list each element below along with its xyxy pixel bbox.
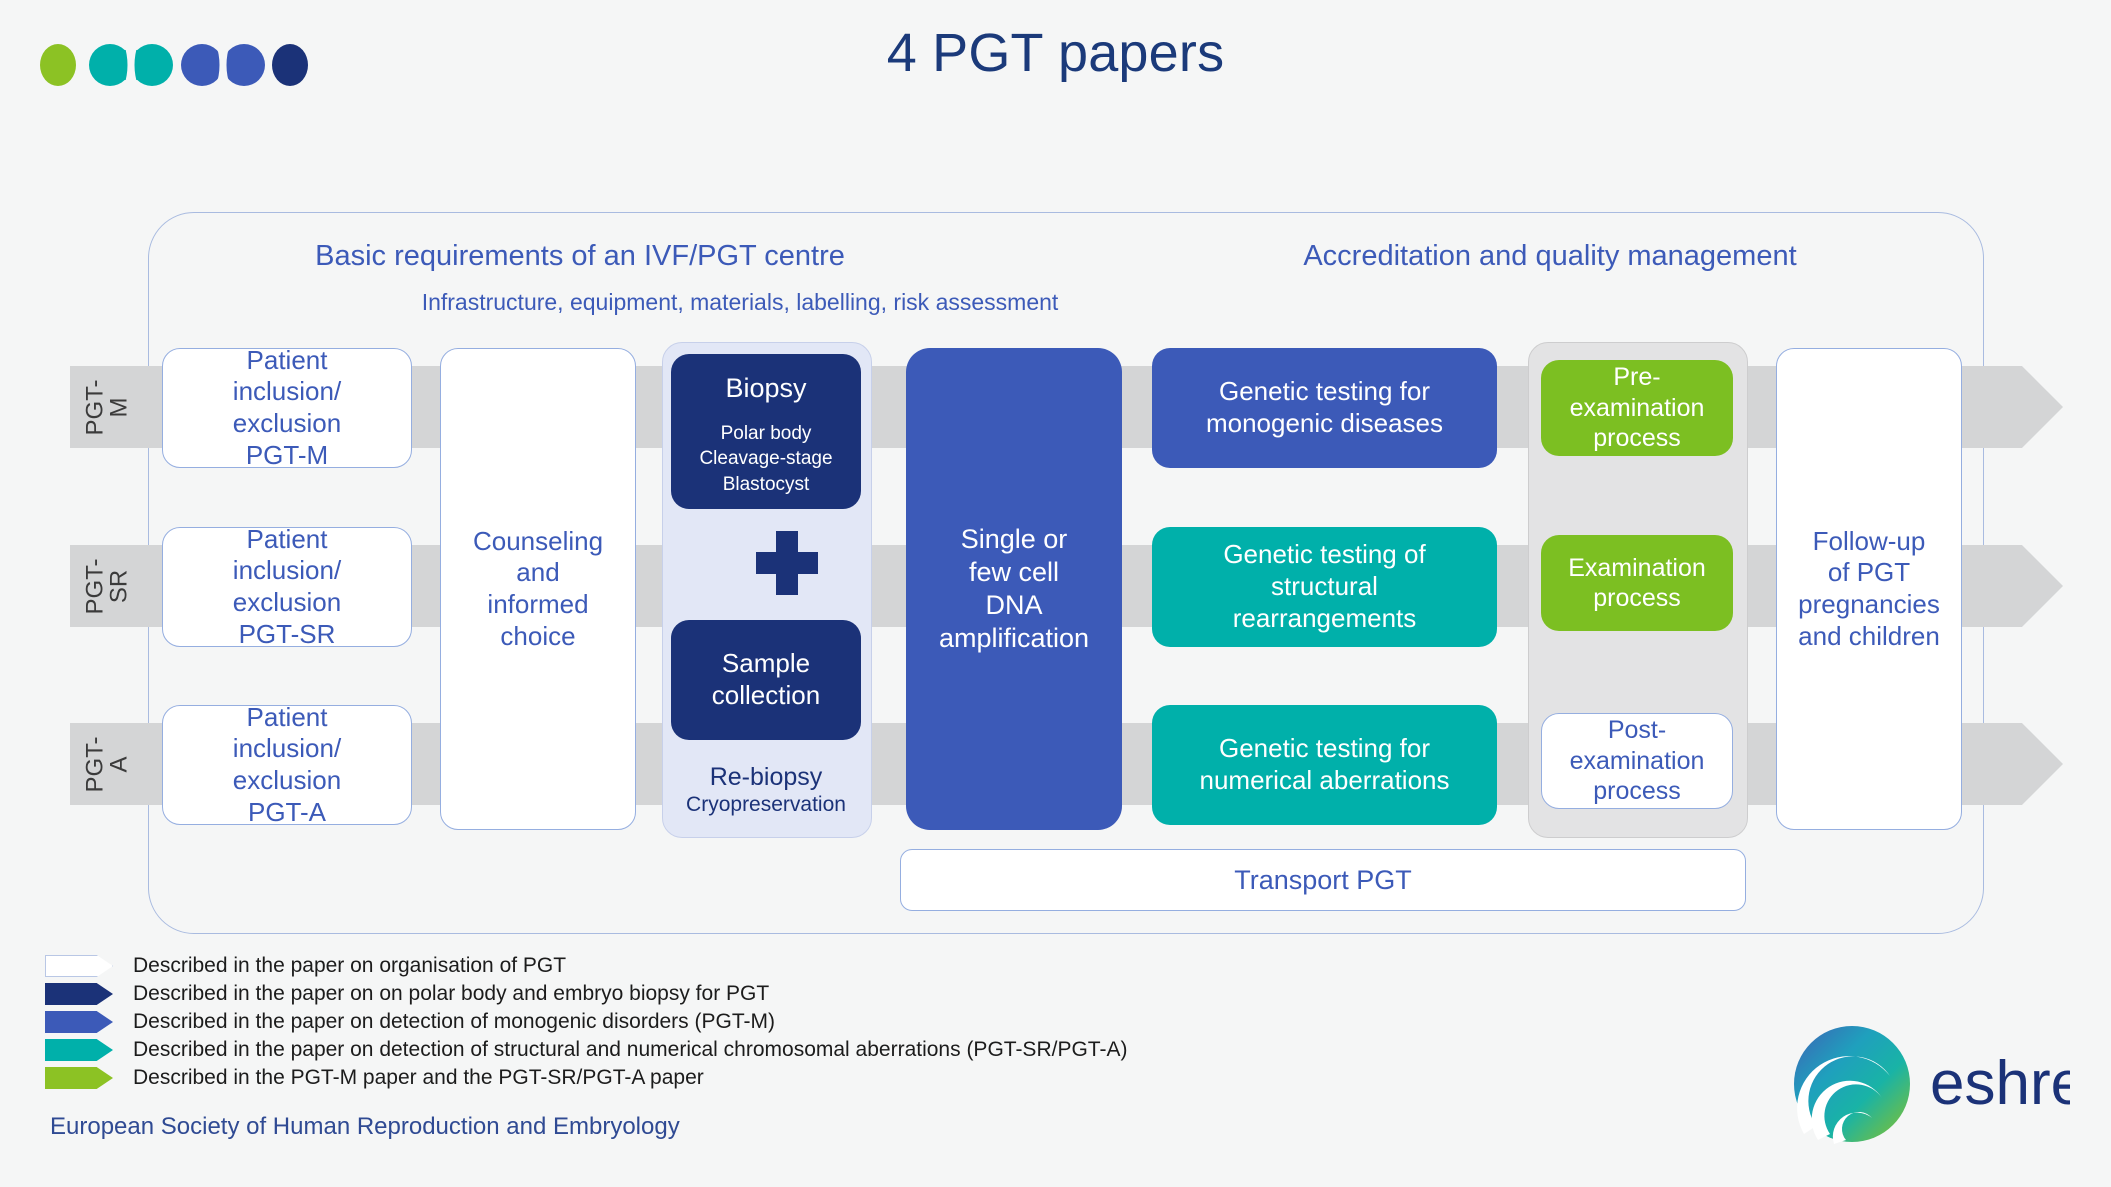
card-follow-up[interactable]: Follow-upof PGTpregnanciesand children bbox=[1776, 348, 1962, 830]
row-label-pgt-m-text: PGT-M bbox=[84, 379, 133, 435]
row-label-pgt-sr: PGT-SR bbox=[70, 545, 146, 627]
legend: Described in the paper on organisation o… bbox=[45, 952, 1127, 1092]
legend-item: Described in the paper on organisation o… bbox=[45, 952, 1127, 980]
eshre-swirl-icon bbox=[1794, 1026, 1910, 1144]
card-patient-inclusion-pgt-m[interactable]: Patientinclusion/exclusionPGT-M bbox=[162, 348, 412, 468]
card-biopsy[interactable]: Biopsy Polar bodyCleavage-stageBlastocys… bbox=[671, 354, 861, 509]
card-biopsy-title: Biopsy bbox=[725, 372, 806, 405]
card-dna-amplification[interactable]: Single orfew cellDNAamplification bbox=[906, 348, 1122, 830]
legend-label-structural: Described in the paper on detection of s… bbox=[133, 1038, 1127, 1062]
row-arrow-pgt-sr-icon bbox=[1955, 545, 2063, 627]
row-label-pgt-a-text: PGT-A bbox=[84, 736, 133, 792]
card-pre-examination-process[interactable]: Pre-examinationprocess bbox=[1541, 360, 1733, 456]
legend-item: Described in the PGT-M paper and the PGT… bbox=[45, 1064, 1127, 1092]
eshre-logo: eshre bbox=[1790, 1022, 2070, 1152]
legend-label-organisation: Described in the paper on organisation o… bbox=[133, 954, 566, 978]
card-examination-process[interactable]: Examinationprocess bbox=[1541, 535, 1733, 631]
card-patient-inclusion-pgt-a[interactable]: Patientinclusion/exclusionPGT-A bbox=[162, 705, 412, 825]
card-patient-inclusion-pgt-sr[interactable]: Patientinclusion/exclusionPGT-SR bbox=[162, 527, 412, 647]
legend-swatch-structural-icon bbox=[45, 1039, 113, 1061]
row-label-pgt-a: PGT-A bbox=[70, 723, 146, 805]
legend-swatch-monogenic-icon bbox=[45, 1011, 113, 1033]
card-genetic-testing-numerical[interactable]: Genetic testing fornumerical aberrations bbox=[1152, 705, 1497, 825]
section-title-basic-requirements: Basic requirements of an IVF/PGT centre bbox=[300, 240, 860, 273]
biopsy-footer: Re-biopsy Cryopreservation bbox=[662, 762, 870, 818]
card-biopsy-subtext: Polar bodyCleavage-stageBlastocyst bbox=[699, 421, 832, 496]
card-genetic-testing-structural[interactable]: Genetic testing ofstructuralrearrangemen… bbox=[1152, 527, 1497, 647]
card-sample-collection[interactable]: Samplecollection bbox=[671, 620, 861, 740]
plus-icon bbox=[756, 531, 778, 595]
legend-swatch-organisation-icon bbox=[45, 955, 113, 977]
row-arrow-pgt-a-icon bbox=[1955, 723, 2063, 805]
section-subtitle-infrastructure: Infrastructure, equipment, materials, la… bbox=[300, 289, 1180, 316]
footer-society-name: European Society of Human Reproduction a… bbox=[50, 1113, 680, 1141]
legend-item: Described in the paper on on polar body … bbox=[45, 980, 1127, 1008]
legend-swatch-both-papers-icon bbox=[45, 1067, 113, 1089]
row-label-pgt-m: PGT-M bbox=[70, 366, 146, 448]
eshre-wordmark: eshre bbox=[1930, 1049, 2070, 1118]
legend-swatch-biopsy-icon bbox=[45, 983, 113, 1005]
card-genetic-testing-monogenic[interactable]: Genetic testing formonogenic diseases bbox=[1152, 348, 1497, 468]
card-counseling-informed-choice[interactable]: Counselingandinformedchoice bbox=[440, 348, 636, 830]
biopsy-footer-cryopreservation: Cryopreservation bbox=[662, 792, 870, 818]
biopsy-footer-rebiopsy: Re-biopsy bbox=[662, 762, 870, 792]
section-title-accreditation: Accreditation and quality management bbox=[1190, 240, 1910, 273]
page-title: 4 PGT papers bbox=[0, 22, 2111, 84]
card-transport-pgt[interactable]: Transport PGT bbox=[900, 849, 1746, 911]
card-post-examination-process[interactable]: Post-examinationprocess bbox=[1541, 713, 1733, 809]
legend-label-both-papers: Described in the PGT-M paper and the PGT… bbox=[133, 1066, 704, 1090]
row-arrow-pgt-m-icon bbox=[1955, 366, 2063, 448]
legend-label-monogenic: Described in the paper on detection of m… bbox=[133, 1010, 775, 1034]
legend-label-biopsy: Described in the paper on on polar body … bbox=[133, 982, 769, 1006]
legend-item: Described in the paper on detection of m… bbox=[45, 1008, 1127, 1036]
legend-item: Described in the paper on detection of s… bbox=[45, 1036, 1127, 1064]
row-label-pgt-sr-text: PGT-SR bbox=[84, 558, 133, 614]
